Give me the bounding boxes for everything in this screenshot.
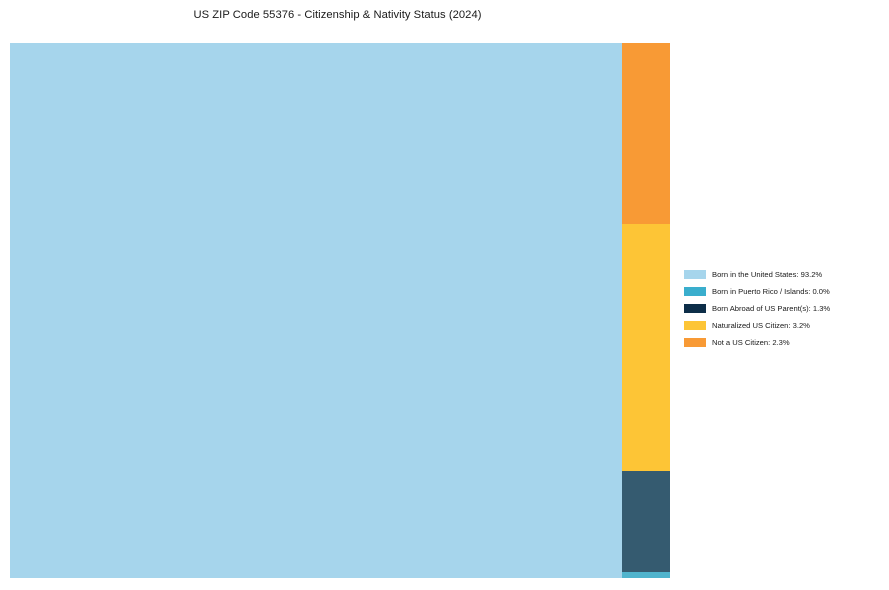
legend-item-1[interactable]: Born in Puerto Rico / Islands: 0.0% [684,283,884,300]
legend-label: Not a US Citizen: 2.3% [712,339,790,347]
treemap-cell-born-abroad[interactable] [622,471,670,572]
legend-swatch-icon [684,287,706,296]
legend-item-2[interactable]: Born Abroad of US Parent(s): 1.3% [684,300,884,317]
legend-swatch-icon [684,321,706,330]
legend-item-4[interactable]: Not a US Citizen: 2.3% [684,334,884,351]
legend-swatch-icon [684,270,706,279]
treemap-cell-born-puerto-rico[interactable] [622,572,670,578]
legend-label: Born in the United States: 93.2% [712,271,822,279]
legend-swatch-icon [684,304,706,313]
legend-label: Naturalized US Citizen: 3.2% [712,322,810,330]
chart-legend: Born in the United States: 93.2%Born in … [684,266,884,351]
treemap-cell-born-in-us[interactable] [10,43,622,578]
treemap-plot-area [10,43,670,578]
legend-swatch-icon [684,338,706,347]
legend-label: Born Abroad of US Parent(s): 1.3% [712,305,830,313]
treemap-cell-naturalized[interactable] [622,224,670,471]
legend-item-3[interactable]: Naturalized US Citizen: 3.2% [684,317,884,334]
legend-label: Born in Puerto Rico / Islands: 0.0% [712,288,830,296]
legend-item-0[interactable]: Born in the United States: 93.2% [684,266,884,283]
chart-title: US ZIP Code 55376 - Citizenship & Nativi… [0,9,675,21]
treemap-cell-not-a-us-citizen[interactable] [622,43,670,224]
